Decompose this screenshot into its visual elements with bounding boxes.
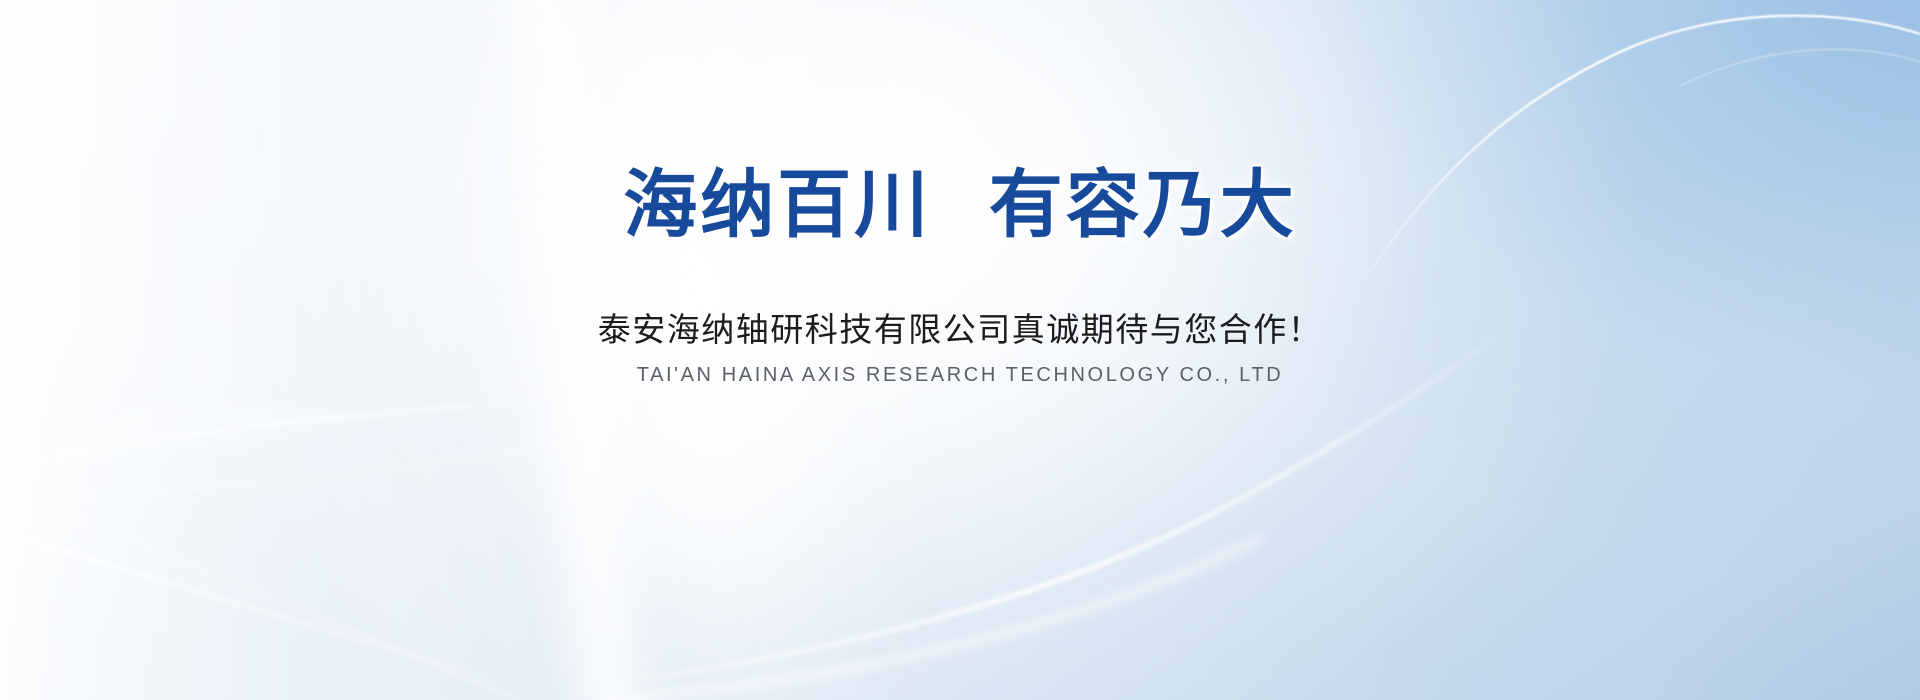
- banner-headline: 海纳百川 有容乃大: [0, 168, 1920, 242]
- banner-subtitle-chinese: 泰安海纳轴研科技有限公司真诚期待与您合作！: [0, 309, 1920, 350]
- banner-subtitle-english: TAI'AN HAINA AXIS RESEARCH TECHNOLOGY CO…: [0, 362, 1920, 388]
- banner-content: 海纳百川 有容乃大 泰安海纳轴研科技有限公司真诚期待与您合作！ TAI'AN H…: [0, 0, 1920, 700]
- hero-banner: 海纳百川 有容乃大 泰安海纳轴研科技有限公司真诚期待与您合作！ TAI'AN H…: [0, 0, 1920, 700]
